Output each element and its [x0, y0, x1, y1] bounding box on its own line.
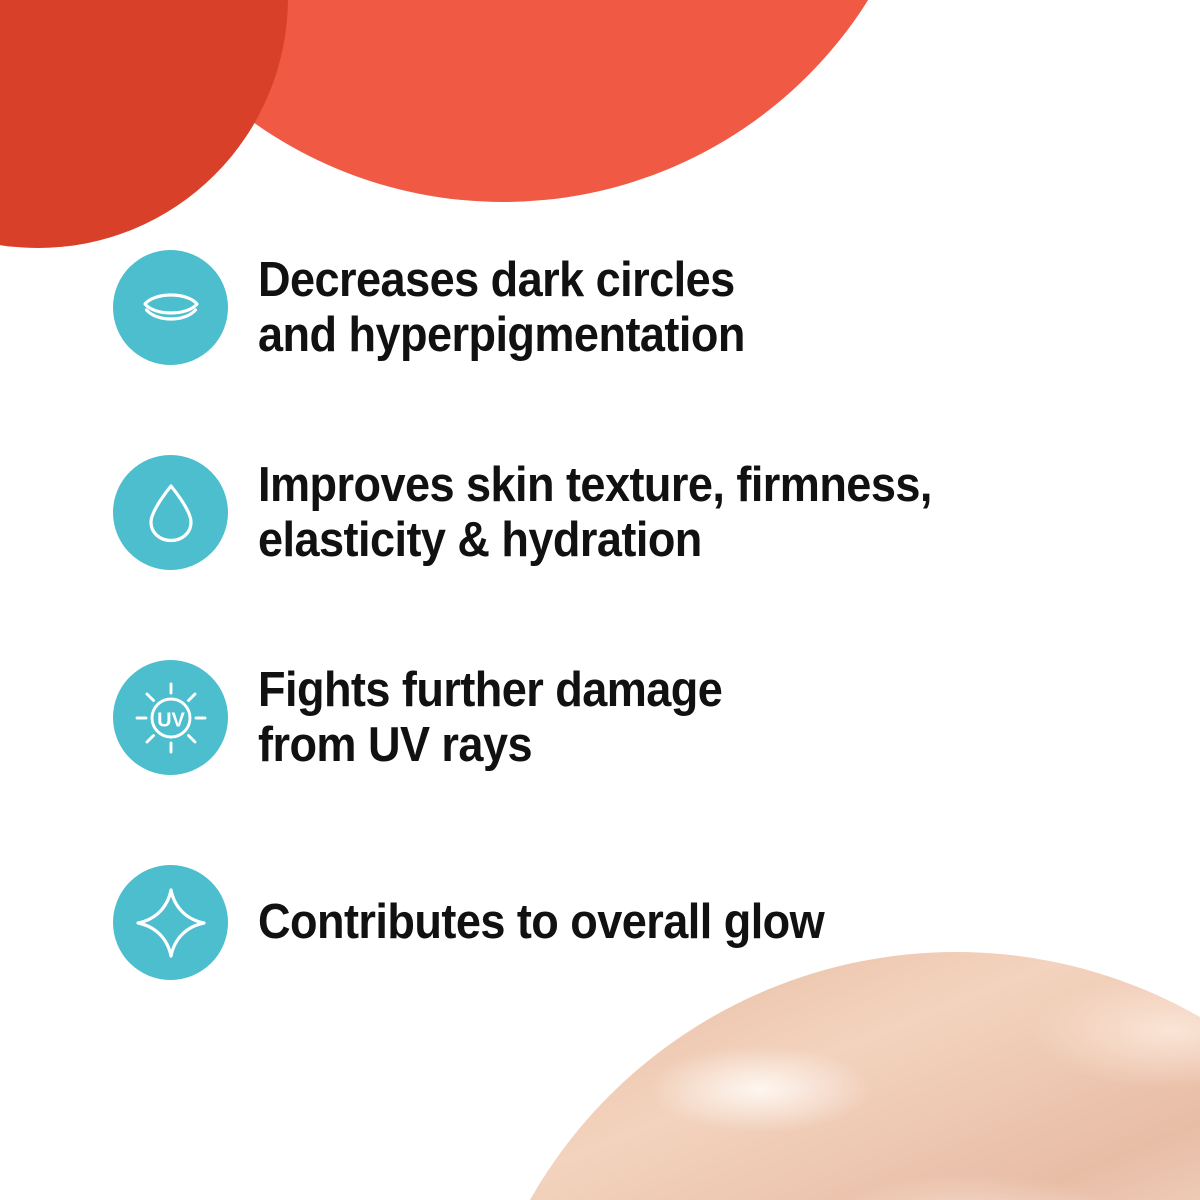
infographic-canvas: Decreases dark circles and hyperpigmenta… [0, 0, 1200, 1200]
sparkle-star-icon [113, 865, 228, 980]
under-eye-lens-icon [113, 250, 228, 365]
benefit-item-overall-glow: Contributes to overall glow [113, 865, 873, 980]
benefits-list: Decreases dark circles and hyperpigmenta… [0, 0, 1200, 1200]
benefit-text: Contributes to overall glow [258, 895, 824, 950]
benefit-item-uv-protection: UV Fights further damage from UV rays [113, 660, 763, 775]
benefit-text: Fights further damage from UV rays [258, 663, 722, 773]
benefit-item-dark-circles: Decreases dark circles and hyperpigmenta… [113, 250, 787, 365]
benefit-item-skin-texture: Improves skin texture, firmness, elastic… [113, 455, 990, 570]
uv-icon-label: UV [157, 709, 185, 731]
uv-sun-icon: UV [113, 660, 228, 775]
water-droplet-icon [113, 455, 228, 570]
benefit-text: Decreases dark circles and hyperpigmenta… [258, 253, 745, 363]
benefit-text: Improves skin texture, firmness, elastic… [258, 458, 932, 568]
